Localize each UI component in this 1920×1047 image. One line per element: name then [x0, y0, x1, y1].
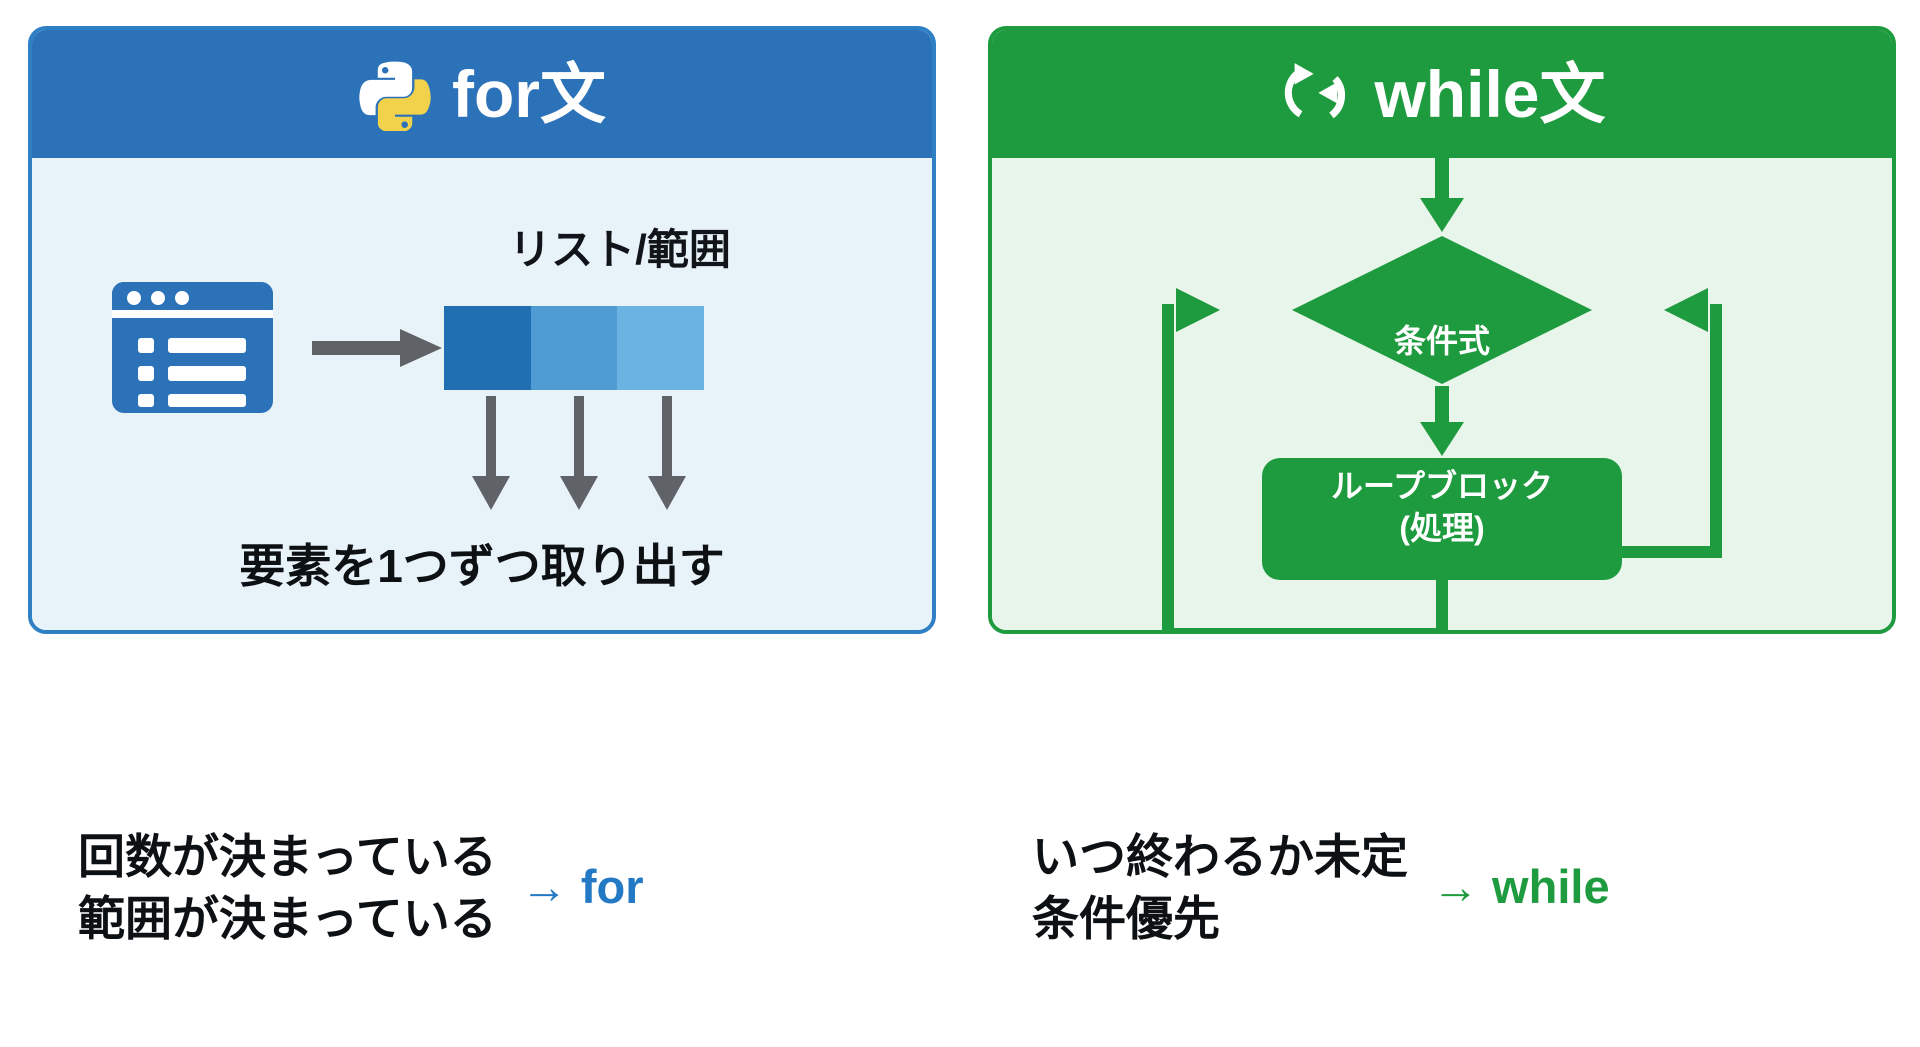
right-arrow-icon [312, 326, 442, 370]
sequence-segment-2 [531, 306, 618, 390]
while-summary-line2: 条件優先 [1032, 888, 1408, 950]
while-card-body: 条件式 ループブロック (処理) [992, 158, 1892, 630]
while-keyword: → while [1432, 859, 1610, 918]
condition-label: 条件式 [1394, 316, 1490, 362]
list-window-icon [110, 280, 275, 415]
while-summary-lines: いつ終わるか未定 条件優先 [1032, 826, 1408, 950]
down-arrow-icon [464, 396, 694, 514]
for-card-header: for文 [32, 30, 932, 158]
loop-block-label-line1: ループブロック [1252, 466, 1632, 508]
for-caption: 要素を1つずつ取り出す [32, 530, 932, 596]
while-summary: いつ終わるか未定 条件優先 → while [1032, 826, 1610, 950]
sequence-bar [444, 306, 704, 390]
list-range-label: リスト/範囲 [470, 216, 770, 277]
for-summary-line1: 回数が決まっている [78, 826, 497, 888]
for-card-body: リスト/範囲 [32, 158, 932, 630]
loop-block-label: ループブロック (処理) [1252, 466, 1632, 549]
while-card-title: while文 [1374, 61, 1605, 127]
python-logo-icon [358, 57, 432, 131]
for-card-title: for文 [452, 61, 606, 127]
refresh-loop-icon [1278, 56, 1354, 132]
while-flowchart: 条件式 ループブロック (処理) [992, 158, 1892, 630]
for-keyword: → for [521, 859, 644, 918]
while-statement-card: while文 [988, 26, 1896, 634]
sequence-segment-3 [617, 306, 704, 390]
for-summary-lines: 回数が決まっている 範囲が決まっている [78, 826, 497, 950]
sequence-segment-1 [444, 306, 531, 390]
for-summary-line2: 範囲が決まっている [78, 888, 497, 950]
loop-block-label-line2: (処理) [1252, 508, 1632, 550]
while-summary-line1: いつ終わるか未定 [1032, 826, 1408, 888]
for-statement-card: for文 リスト/範囲 [28, 26, 936, 634]
while-card-header: while文 [992, 30, 1892, 158]
slide-canvas: for文 リスト/範囲 [0, 0, 1920, 1047]
for-summary: 回数が決まっている 範囲が決まっている → for [78, 826, 644, 950]
